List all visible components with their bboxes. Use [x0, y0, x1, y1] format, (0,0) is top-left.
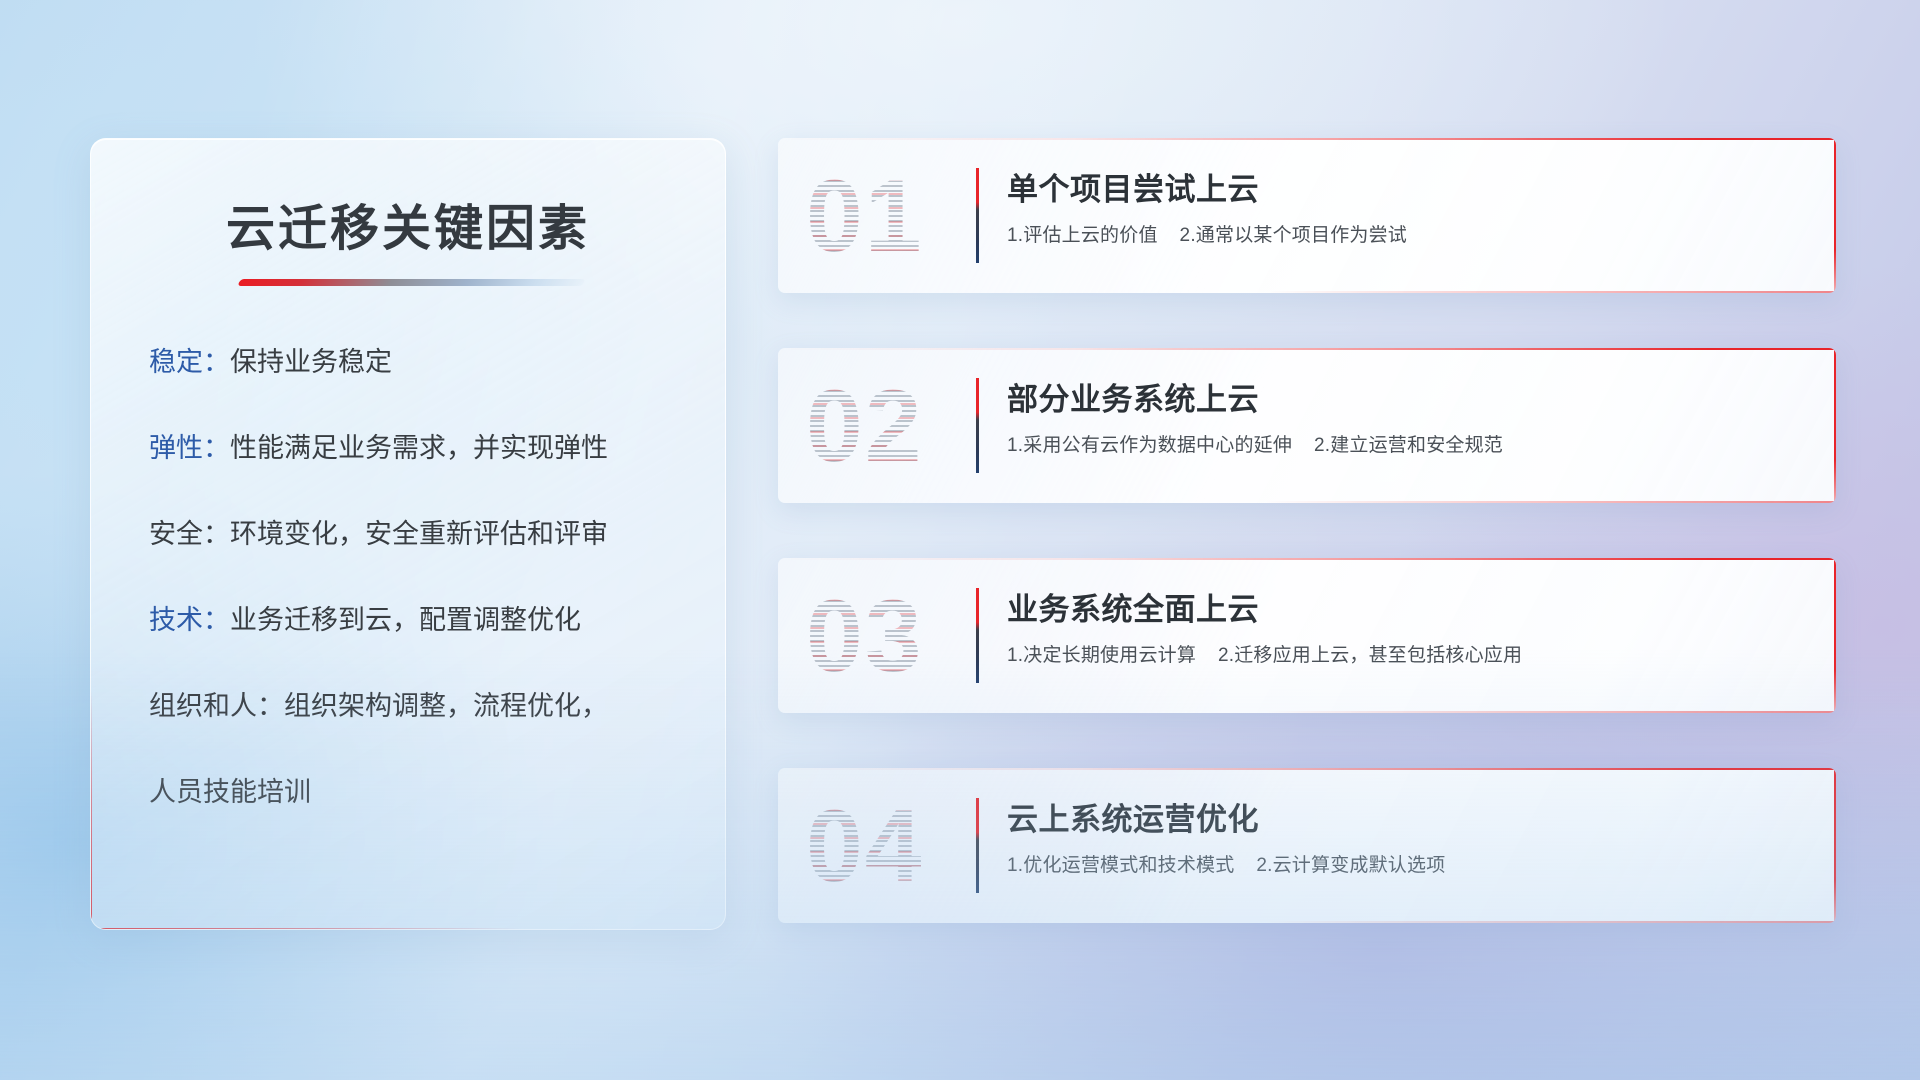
step-subtitle: 1.优化运营模式和技术模式 2.云计算变成默认选项 [1007, 854, 1808, 878]
card-top-accent [778, 348, 1836, 350]
list-item: 组织和人：组织架构调整，流程优化， [149, 693, 685, 720]
fact-value: 环境变化，安全重新评估和评审 [230, 519, 608, 549]
fact-value: 保持业务稳定 [230, 347, 392, 377]
key-factors-list: 稳定：保持业务稳定 弹性：性能满足业务需求，并实现弹性 安全：环境变化，安全重新… [149, 349, 685, 806]
step-card-02[interactable]: 02 02 部分业务系统上云 1.采用公有云作为数据中心的延伸 2.建立运营和安… [778, 348, 1836, 503]
card-right-accent [1834, 768, 1836, 923]
step-subtitle: 1.评估上云的价值 2.通常以某个项目作为尝试 [1007, 224, 1808, 248]
step-number-watermark-tint: 02 [806, 375, 923, 477]
list-item: 弹性：性能满足业务需求，并实现弹性 [149, 435, 685, 462]
step-accent-bar [976, 168, 979, 263]
card-right-accent [1834, 348, 1836, 503]
fact-label: 稳定： [149, 347, 230, 377]
step-card-04[interactable]: 04 04 云上系统运营优化 1.优化运营模式和技术模式 2.云计算变成默认选项 [778, 768, 1836, 923]
fact-value: 性能满足业务需求，并实现弹性 [230, 433, 608, 463]
title-divider [237, 279, 585, 286]
key-factors-card: 云迁移关键因素 稳定：保持业务稳定 弹性：性能满足业务需求，并实现弹性 安全：环… [90, 138, 726, 930]
step-title: 单个项目尝试上云 [1007, 172, 1808, 208]
list-item: 技术：业务迁移到云，配置调整优化 [149, 607, 685, 634]
fact-label: 组织和人： [149, 691, 284, 721]
card-bottom-accent [1265, 711, 1836, 713]
fact-label: 弹性： [149, 433, 230, 463]
fact-label: 安全： [149, 519, 230, 549]
step-card-03[interactable]: 03 03 业务系统全面上云 1.决定长期使用云计算 2.迁移应用上云，甚至包括… [778, 558, 1836, 713]
step-accent-bar [976, 378, 979, 473]
card-top-accent [778, 138, 1836, 140]
step-title: 云上系统运营优化 [1007, 802, 1808, 838]
page-title: 云迁移关键因素 [91, 189, 725, 260]
slide-root: 云迁移关键因素 稳定：保持业务稳定 弹性：性能满足业务需求，并实现弹性 安全：环… [0, 0, 1920, 1080]
step-accent-bar [976, 798, 979, 893]
fact-value: 人员技能培训 [149, 777, 311, 807]
step-card-01[interactable]: 01 01 单个项目尝试上云 1.评估上云的价值 2.通常以某个项目作为尝试 [778, 138, 1836, 293]
step-subtitle: 1.决定长期使用云计算 2.迁移应用上云，甚至包括核心应用 [1007, 644, 1808, 668]
step-number-watermark-tint: 03 [806, 585, 923, 687]
step-text-block: 业务系统全面上云 1.决定长期使用云计算 2.迁移应用上云，甚至包括核心应用 [1007, 592, 1808, 668]
list-item: 安全：环境变化，安全重新评估和评审 [149, 521, 685, 548]
fact-value: 业务迁移到云，配置调整优化 [230, 605, 581, 635]
step-title: 部分业务系统上云 [1007, 382, 1808, 418]
step-text-block: 部分业务系统上云 1.采用公有云作为数据中心的延伸 2.建立运营和安全规范 [1007, 382, 1808, 458]
card-top-accent [778, 558, 1836, 560]
migration-steps-list: 01 01 单个项目尝试上云 1.评估上云的价值 2.通常以某个项目作为尝试 0… [778, 138, 1836, 923]
card-top-accent [778, 768, 1836, 770]
step-subtitle: 1.采用公有云作为数据中心的延伸 2.建立运营和安全规范 [1007, 434, 1808, 458]
card-bottom-accent [1265, 921, 1836, 923]
card-bottom-accent [1265, 291, 1836, 293]
card-red-corner-accent [90, 929, 91, 930]
list-item: 人员技能培训 [149, 779, 685, 806]
card-right-accent [1834, 558, 1836, 713]
card-bottom-accent [1265, 501, 1836, 503]
list-item: 稳定：保持业务稳定 [149, 349, 685, 376]
step-text-block: 云上系统运营优化 1.优化运营模式和技术模式 2.云计算变成默认选项 [1007, 802, 1808, 878]
step-accent-bar [976, 588, 979, 683]
step-number-watermark-tint: 04 [806, 795, 923, 897]
fact-value: 组织架构调整，流程优化， [284, 691, 608, 721]
step-text-block: 单个项目尝试上云 1.评估上云的价值 2.通常以某个项目作为尝试 [1007, 172, 1808, 248]
step-number-watermark-tint: 01 [806, 165, 923, 267]
fact-label: 技术： [149, 605, 230, 635]
card-right-accent [1834, 138, 1836, 293]
step-title: 业务系统全面上云 [1007, 592, 1808, 628]
